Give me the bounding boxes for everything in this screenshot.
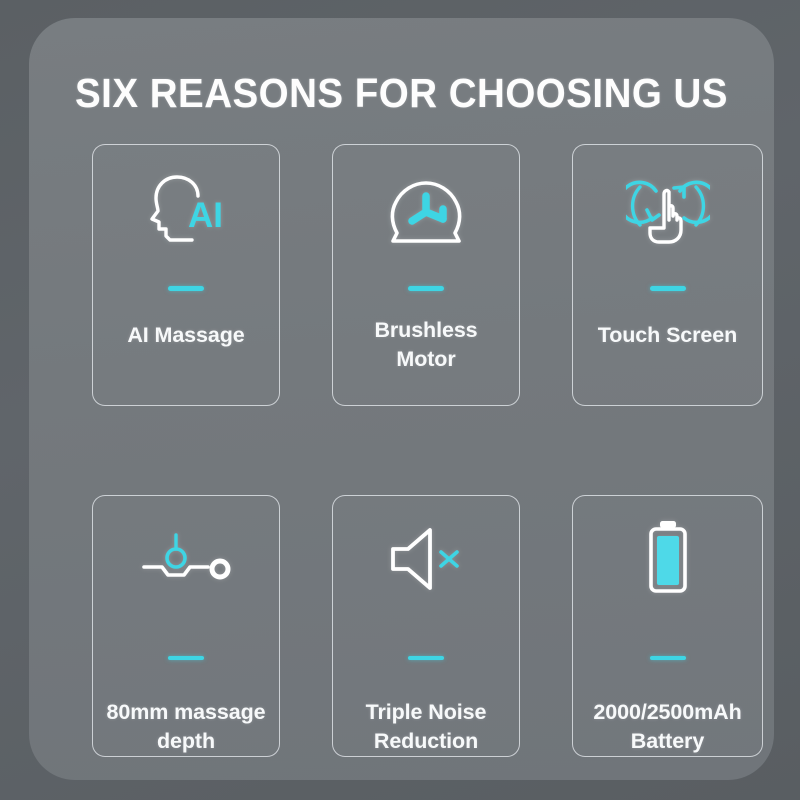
battery-icon-wrap <box>573 496 762 616</box>
speaker-mute-icon <box>383 525 469 595</box>
label-line: depth <box>93 727 279 756</box>
label-line: 2000/2500mAh <box>573 698 762 727</box>
card-accent-divider <box>650 656 686 660</box>
label-line: Brushless <box>333 316 519 345</box>
touch-screen-hand-icon <box>626 174 710 252</box>
brushless-motor-icon <box>385 175 467 251</box>
feature-card-touch-screen[interactable]: Touch Screen <box>572 144 763 406</box>
card-accent-divider <box>650 286 686 291</box>
feature-card-label: 2000/2500mAh Battery <box>573 698 762 756</box>
card-accent-divider <box>168 286 204 291</box>
label-line: Triple Noise <box>333 698 519 727</box>
page-title: SIX REASONS FOR CHOOSING US <box>51 70 751 117</box>
speaker-mute-icon-wrap <box>333 496 519 616</box>
card-accent-divider <box>408 286 444 291</box>
label-line: Battery <box>573 727 762 756</box>
card-accent-divider <box>408 656 444 660</box>
feature-card-label: AI Massage <box>93 321 279 350</box>
battery-icon <box>637 517 699 603</box>
feature-card-noise-reduction[interactable]: Triple Noise Reduction <box>332 495 520 757</box>
massage-depth-icon-wrap <box>93 496 279 616</box>
feature-card-label: Touch Screen <box>573 321 762 350</box>
ai-head-icon-text: AI <box>188 196 223 235</box>
feature-card-label: Brushless Motor <box>333 316 519 374</box>
feature-card-grid: AI AI Massage Brushless Motor <box>92 144 763 758</box>
feature-card-label: 80mm massage depth <box>93 698 279 756</box>
feature-panel: SIX REASONS FOR CHOOSING US AI AI Massag… <box>29 18 774 780</box>
massage-depth-icon <box>136 529 236 591</box>
feature-card-massage-depth[interactable]: 80mm massage depth <box>92 495 280 757</box>
touch-screen-hand-icon-wrap <box>573 145 762 273</box>
ai-head-icon-wrap: AI <box>93 145 279 273</box>
ai-head-icon: AI <box>144 174 228 252</box>
brushless-motor-icon-wrap <box>333 145 519 273</box>
card-accent-divider <box>168 656 204 660</box>
feature-card-ai-massage[interactable]: AI AI Massage <box>92 144 280 406</box>
label-line: AI Massage <box>93 321 279 350</box>
label-line: Touch Screen <box>573 321 762 350</box>
feature-card-brushless-motor[interactable]: Brushless Motor <box>332 144 520 406</box>
feature-card-label: Triple Noise Reduction <box>333 698 519 756</box>
label-line: Reduction <box>333 727 519 756</box>
label-line: Motor <box>333 345 519 374</box>
feature-card-battery[interactable]: 2000/2500mAh Battery <box>572 495 763 757</box>
label-line: 80mm massage <box>93 698 279 727</box>
